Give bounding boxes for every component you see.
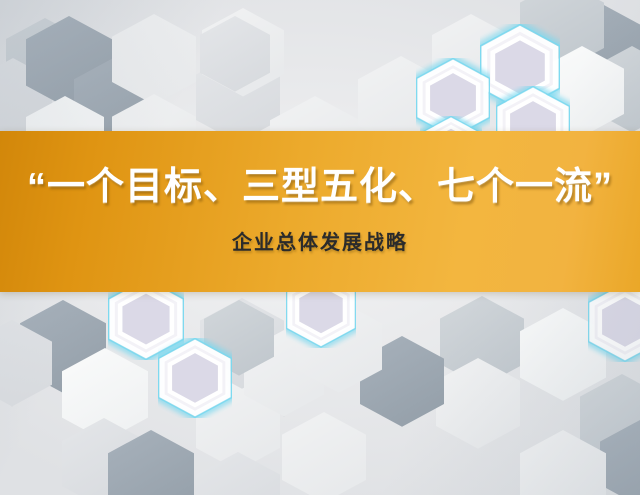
page-subtitle: 企业总体发展战略 <box>232 226 408 255</box>
title-banner: “一个目标、三型五化、七个一流” 企业总体发展战略 <box>0 131 640 292</box>
slide-canvas: “一个目标、三型五化、七个一流” 企业总体发展战略 <box>0 0 640 495</box>
title-banner-content: “一个目标、三型五化、七个一流” 企业总体发展战略 <box>0 131 640 292</box>
page-title: “一个目标、三型五化、七个一流” <box>27 168 613 208</box>
glowing-hexagon <box>158 338 232 418</box>
glowing-hexagon <box>588 282 640 362</box>
